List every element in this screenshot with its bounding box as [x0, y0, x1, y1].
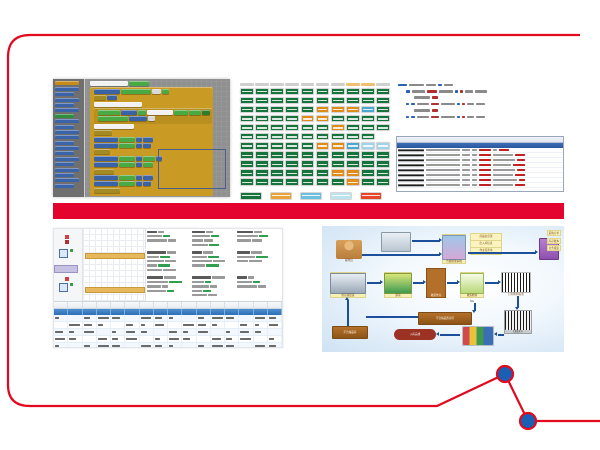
status-cell[interactable] — [376, 160, 390, 168]
palette-block[interactable] — [55, 98, 79, 102]
table-cell[interactable] — [154, 329, 168, 335]
table-row[interactable] — [54, 336, 282, 343]
table-cell[interactable] — [239, 343, 253, 348]
palette-block[interactable] — [55, 103, 74, 107]
table-cell[interactable] — [197, 336, 211, 342]
status-cell[interactable] — [346, 97, 360, 105]
status-cell[interactable] — [270, 88, 284, 96]
block-chip[interactable] — [94, 95, 106, 100]
table-cell[interactable] — [97, 322, 111, 328]
table-cell[interactable] — [168, 329, 182, 335]
block-chip[interactable] — [143, 156, 155, 161]
block-chip[interactable] — [94, 130, 112, 135]
status-cell[interactable] — [285, 142, 299, 150]
block-row[interactable] — [98, 116, 210, 121]
block-chip[interactable] — [119, 175, 135, 180]
status-cell[interactable] — [255, 88, 269, 96]
status-cell[interactable] — [285, 97, 299, 105]
log-row[interactable] — [397, 183, 563, 188]
status-cell[interactable] — [361, 88, 375, 96]
status-cell[interactable] — [301, 160, 315, 168]
block-chip[interactable] — [119, 181, 135, 186]
status-cell[interactable] — [270, 160, 284, 168]
palette-block[interactable] — [55, 114, 74, 118]
table-cell[interactable] — [83, 336, 97, 342]
block-chip[interactable] — [136, 181, 142, 186]
palette-block[interactable] — [55, 151, 74, 155]
status-cell[interactable] — [346, 151, 360, 159]
table-cell[interactable] — [182, 343, 196, 348]
status-cell[interactable] — [301, 88, 315, 96]
block-chip[interactable] — [147, 110, 173, 115]
table-cell[interactable] — [140, 315, 154, 321]
block-chip[interactable] — [94, 102, 142, 107]
status-cell[interactable] — [376, 124, 390, 132]
block-chip[interactable] — [143, 143, 151, 148]
status-cell[interactable] — [346, 88, 360, 96]
status-cell[interactable] — [301, 151, 315, 159]
block-chip[interactable] — [107, 95, 117, 100]
block-chip[interactable] — [90, 81, 128, 86]
block-chip[interactable] — [138, 110, 146, 115]
status-cell[interactable] — [331, 160, 345, 168]
table-cell[interactable] — [168, 315, 182, 321]
table-cell[interactable] — [97, 343, 111, 348]
table-cell[interactable] — [211, 343, 225, 348]
block-chip[interactable] — [136, 156, 142, 161]
table-cell[interactable] — [197, 329, 211, 335]
status-cell[interactable] — [361, 124, 375, 132]
block-chip[interactable] — [143, 181, 151, 186]
table-cell[interactable] — [140, 322, 154, 328]
table-cell[interactable] — [225, 329, 239, 335]
status-cell[interactable] — [255, 124, 269, 132]
status-cell[interactable] — [240, 106, 254, 114]
table-cell[interactable] — [182, 329, 196, 335]
column-letter[interactable] — [83, 302, 97, 308]
status-cell[interactable] — [301, 97, 315, 105]
status-cell[interactable] — [270, 133, 284, 141]
status-cell[interactable] — [361, 133, 375, 141]
code-line[interactable] — [392, 102, 564, 106]
node-reject-warehouse[interactable]: 不合格品库 — [332, 326, 368, 339]
table-body[interactable] — [54, 315, 282, 348]
gantt-bar-1[interactable] — [85, 253, 145, 259]
column-letter[interactable] — [154, 302, 168, 308]
code-editor-panel[interactable] — [392, 83, 564, 135]
spreadsheet-column-bar[interactable] — [54, 301, 282, 309]
status-cell[interactable] — [361, 151, 375, 159]
table-cell[interactable] — [168, 336, 182, 342]
table-cell[interactable] — [111, 329, 125, 335]
rail-node[interactable] — [59, 283, 68, 292]
status-cell[interactable] — [376, 169, 390, 177]
palette-block[interactable] — [55, 108, 79, 112]
table-cell[interactable] — [54, 315, 68, 321]
status-cell[interactable] — [331, 133, 345, 141]
table-cell[interactable] — [111, 343, 125, 348]
status-cell[interactable] — [331, 151, 345, 159]
table-cell[interactable] — [83, 322, 97, 328]
code-line[interactable] — [392, 115, 564, 119]
status-cell[interactable] — [270, 124, 284, 132]
status-cell[interactable] — [301, 124, 315, 132]
table-cell[interactable] — [125, 329, 139, 335]
palette-block[interactable] — [55, 87, 79, 91]
block-row[interactable] — [94, 102, 212, 107]
block-wrapper-inner[interactable] — [94, 108, 212, 124]
status-cell[interactable] — [316, 133, 330, 141]
status-cell[interactable] — [316, 151, 330, 159]
gantt-chart[interactable] — [83, 229, 146, 301]
block-chip[interactable] — [94, 149, 110, 154]
node-reject-area[interactable]: 不合格品暂存区 — [418, 312, 472, 325]
table-cell[interactable] — [254, 336, 268, 342]
table-cell[interactable] — [239, 315, 253, 321]
block-chip[interactable] — [129, 81, 149, 86]
block-chip[interactable] — [152, 89, 161, 94]
column-letter[interactable] — [268, 302, 282, 308]
table-cell[interactable] — [211, 336, 225, 342]
block-chip[interactable] — [136, 143, 142, 148]
status-cell[interactable] — [331, 88, 345, 96]
column-letter[interactable] — [254, 302, 268, 308]
node-wms[interactable]: 仓储管理系统 — [442, 234, 466, 264]
table-cell[interactable] — [197, 322, 211, 328]
table-cell[interactable] — [182, 336, 196, 342]
status-cell[interactable] — [376, 88, 390, 96]
block-chip[interactable] — [121, 89, 151, 94]
status-cell[interactable] — [316, 124, 330, 132]
status-cell[interactable] — [285, 124, 299, 132]
status-cell[interactable] — [270, 106, 284, 114]
table-cell[interactable] — [268, 329, 282, 335]
code-line[interactable] — [392, 96, 564, 100]
status-cell[interactable] — [285, 88, 299, 96]
block-chip[interactable] — [143, 162, 153, 167]
table-cell[interactable] — [125, 336, 139, 342]
status-cell[interactable] — [301, 142, 315, 150]
status-cell[interactable] — [361, 97, 375, 105]
table-cell[interactable] — [154, 336, 168, 342]
status-cell[interactable] — [240, 142, 254, 150]
table-cell[interactable] — [68, 343, 82, 348]
status-cell[interactable] — [346, 178, 360, 186]
table-cell[interactable] — [125, 315, 139, 321]
block-chip[interactable] — [119, 137, 135, 142]
table-cell[interactable] — [225, 343, 239, 348]
status-cell[interactable] — [376, 115, 390, 123]
log-rows[interactable] — [397, 148, 563, 188]
table-cell[interactable] — [68, 336, 82, 342]
table-cell[interactable] — [125, 322, 139, 328]
status-cell[interactable] — [316, 178, 330, 186]
table-cell[interactable] — [54, 336, 68, 342]
column-letter[interactable] — [97, 302, 111, 308]
table-cell[interactable] — [168, 343, 182, 348]
table-cell[interactable] — [83, 315, 97, 321]
node-barcode-scan[interactable]: 扫描录入 — [504, 310, 532, 334]
code-line[interactable] — [392, 109, 564, 113]
status-cell[interactable] — [240, 115, 254, 123]
block-chip[interactable] — [129, 116, 147, 121]
status-cell[interactable] — [316, 169, 330, 177]
status-cell[interactable] — [270, 142, 284, 150]
column-letter[interactable] — [211, 302, 225, 308]
block-chip[interactable] — [94, 169, 114, 174]
column-letter[interactable] — [125, 302, 139, 308]
table-cell[interactable] — [83, 329, 97, 335]
status-cell[interactable] — [331, 124, 345, 132]
table-cell[interactable] — [239, 322, 253, 328]
node-terminal[interactable] — [382, 232, 410, 252]
status-cell[interactable] — [331, 169, 345, 177]
block-row[interactable] — [94, 130, 212, 135]
status-cell[interactable] — [301, 169, 315, 177]
status-grid-panel[interactable] — [240, 83, 390, 197]
node-inbound-complete[interactable]: 入库完成 — [394, 329, 436, 340]
block-chip[interactable] — [143, 137, 153, 142]
palette-block[interactable] — [55, 168, 79, 172]
blocks-editor-panel[interactable] — [53, 79, 230, 197]
block-chip[interactable] — [136, 175, 142, 180]
table-cell[interactable] — [239, 336, 253, 342]
block-chip[interactable] — [143, 175, 153, 180]
status-cell[interactable] — [285, 133, 299, 141]
status-cell[interactable] — [270, 151, 284, 159]
status-cell[interactable] — [361, 169, 375, 177]
block-row[interactable] — [90, 81, 213, 86]
status-cell[interactable] — [331, 178, 345, 186]
column-letter[interactable] — [68, 302, 82, 308]
table-cell[interactable] — [111, 322, 125, 328]
table-cell[interactable] — [83, 343, 97, 348]
table-row[interactable] — [54, 322, 282, 329]
palette-block[interactable] — [55, 130, 79, 134]
palette-block[interactable] — [55, 184, 74, 188]
status-cell[interactable] — [255, 142, 269, 150]
node-receiving-desk[interactable]: 收货作业 — [426, 268, 446, 298]
status-cell[interactable] — [331, 97, 345, 105]
rail-node[interactable] — [59, 249, 68, 258]
block-chip[interactable] — [94, 89, 120, 94]
block-chip[interactable] — [94, 188, 120, 193]
status-cell[interactable] — [240, 169, 254, 177]
block-chip[interactable] — [189, 110, 201, 115]
table-cell[interactable] — [182, 315, 196, 321]
status-cell[interactable] — [361, 106, 375, 114]
status-cell[interactable] — [240, 151, 254, 159]
status-cell[interactable] — [285, 106, 299, 114]
block-chip[interactable] — [94, 175, 118, 180]
block-chip[interactable] — [94, 143, 118, 148]
status-cell[interactable] — [376, 106, 390, 114]
status-cell[interactable] — [376, 151, 390, 159]
column-letter[interactable] — [225, 302, 239, 308]
block-chip[interactable] — [202, 110, 210, 115]
table-cell[interactable] — [268, 336, 282, 342]
spreadsheet-panel[interactable] — [53, 228, 283, 348]
gantt-bar-2[interactable] — [85, 287, 145, 293]
status-cell[interactable] — [270, 115, 284, 123]
status-cell[interactable] — [301, 115, 315, 123]
status-cell[interactable] — [301, 133, 315, 141]
table-cell[interactable] — [54, 329, 68, 335]
palette-block[interactable] — [55, 178, 79, 182]
table-cell[interactable] — [254, 322, 268, 328]
table-cell[interactable] — [97, 329, 111, 335]
table-cell[interactable] — [154, 322, 168, 328]
logistics-flow-panel[interactable]: 操作员 仓储管理系统 商品信息流 出入库信息 作业任务单 采购订单 库存账本 业… — [322, 226, 564, 352]
status-cell[interactable] — [240, 124, 254, 132]
status-cell[interactable] — [346, 115, 360, 123]
status-cell[interactable] — [255, 178, 269, 186]
status-cell[interactable] — [285, 115, 299, 123]
table-cell[interactable] — [125, 343, 139, 348]
table-cell[interactable] — [225, 322, 239, 328]
block-chip[interactable] — [119, 156, 135, 161]
status-cell[interactable] — [270, 97, 284, 105]
table-cell[interactable] — [182, 322, 196, 328]
table-cell[interactable] — [140, 343, 154, 348]
palette-block[interactable] — [55, 141, 74, 145]
table-cell[interactable] — [197, 315, 211, 321]
table-cell[interactable] — [154, 343, 168, 348]
status-cell[interactable] — [346, 124, 360, 132]
status-grid-cells[interactable] — [240, 88, 390, 186]
status-cell[interactable] — [376, 142, 390, 150]
block-chip[interactable] — [94, 137, 118, 142]
table-cell[interactable] — [211, 329, 225, 335]
status-cell[interactable] — [316, 160, 330, 168]
log-console-panel[interactable] — [396, 136, 564, 192]
table-row[interactable] — [54, 343, 282, 348]
table-cell[interactable] — [54, 343, 68, 348]
block-row[interactable] — [94, 124, 212, 129]
status-cell[interactable] — [376, 97, 390, 105]
table-cell[interactable] — [111, 336, 125, 342]
palette-block[interactable] — [55, 157, 79, 161]
table-cell[interactable] — [197, 343, 211, 348]
status-cell[interactable] — [240, 97, 254, 105]
block-row[interactable] — [98, 110, 210, 115]
table-cell[interactable] — [68, 315, 82, 321]
status-cell[interactable] — [316, 88, 330, 96]
block-chip[interactable] — [162, 89, 169, 94]
block-chip[interactable] — [94, 124, 134, 129]
status-cell[interactable] — [255, 115, 269, 123]
table-cell[interactable] — [54, 322, 68, 328]
block-row[interactable] — [94, 137, 212, 142]
column-letter[interactable] — [182, 302, 196, 308]
table-cell[interactable] — [140, 329, 154, 335]
table-cell[interactable] — [268, 343, 282, 348]
status-cell[interactable] — [301, 106, 315, 114]
block-chip[interactable] — [136, 162, 142, 167]
column-letter[interactable] — [54, 302, 68, 308]
status-cell[interactable] — [346, 160, 360, 168]
status-cell[interactable] — [240, 133, 254, 141]
palette-block[interactable] — [55, 173, 74, 177]
status-cell[interactable] — [376, 178, 390, 186]
status-cell[interactable] — [255, 169, 269, 177]
status-cell[interactable] — [240, 178, 254, 186]
block-chip[interactable] — [98, 116, 128, 121]
code-lines[interactable] — [392, 83, 564, 119]
status-cell[interactable] — [240, 160, 254, 168]
status-cell[interactable] — [346, 169, 360, 177]
table-cell[interactable] — [68, 329, 82, 335]
block-chip[interactable] — [121, 110, 137, 115]
node-putaway[interactable] — [462, 326, 494, 346]
table-cell[interactable] — [97, 336, 111, 342]
status-cell[interactable] — [346, 133, 360, 141]
status-cell[interactable] — [361, 142, 375, 150]
table-cell[interactable] — [211, 315, 225, 321]
status-cell[interactable] — [255, 160, 269, 168]
blocks-canvas[interactable] — [86, 79, 230, 197]
block-chip[interactable] — [98, 110, 120, 115]
code-line[interactable] — [392, 83, 564, 87]
table-cell[interactable] — [211, 322, 225, 328]
block-row[interactable] — [94, 95, 212, 100]
column-letter[interactable] — [168, 302, 182, 308]
table-cell[interactable] — [140, 336, 154, 342]
spreadsheet-rail[interactable] — [54, 229, 83, 301]
block-chip[interactable] — [119, 162, 135, 167]
block-chip[interactable] — [174, 110, 188, 115]
table-cell[interactable] — [239, 329, 253, 335]
status-cell[interactable] — [346, 106, 360, 114]
status-cell[interactable] — [255, 133, 269, 141]
table-cell[interactable] — [68, 322, 82, 328]
block-row[interactable] — [94, 143, 212, 148]
node-supplier-delivery[interactable]: 供应商送货 — [330, 272, 366, 298]
palette-block[interactable] — [55, 119, 79, 123]
status-cell[interactable] — [331, 106, 345, 114]
code-line[interactable] — [392, 89, 564, 93]
table-cell[interactable] — [111, 315, 125, 321]
block-chip[interactable] — [119, 143, 135, 148]
palette-block[interactable] — [55, 135, 79, 139]
column-letter[interactable] — [239, 302, 253, 308]
palette-block[interactable] — [55, 81, 79, 85]
status-cell[interactable] — [285, 160, 299, 168]
column-letter[interactable] — [111, 302, 125, 308]
status-cell[interactable] — [270, 178, 284, 186]
column-letter[interactable] — [197, 302, 211, 308]
status-cell[interactable] — [301, 178, 315, 186]
status-cell[interactable] — [255, 97, 269, 105]
status-cell[interactable] — [316, 142, 330, 150]
status-cell[interactable] — [240, 88, 254, 96]
status-cell[interactable] — [361, 115, 375, 123]
table-cell[interactable] — [254, 329, 268, 335]
table-cell[interactable] — [254, 315, 268, 321]
status-cell[interactable] — [316, 97, 330, 105]
status-cell[interactable] — [331, 142, 345, 150]
block-chip[interactable] — [148, 116, 155, 121]
status-cell[interactable] — [285, 151, 299, 159]
column-letter[interactable] — [140, 302, 154, 308]
table-row[interactable] — [54, 329, 282, 336]
status-cell[interactable] — [255, 106, 269, 114]
table-cell[interactable] — [254, 343, 268, 348]
table-cell[interactable] — [225, 336, 239, 342]
status-cell[interactable] — [361, 160, 375, 168]
status-cell[interactable] — [285, 178, 299, 186]
node-unload[interactable]: 卸货 — [384, 272, 412, 298]
